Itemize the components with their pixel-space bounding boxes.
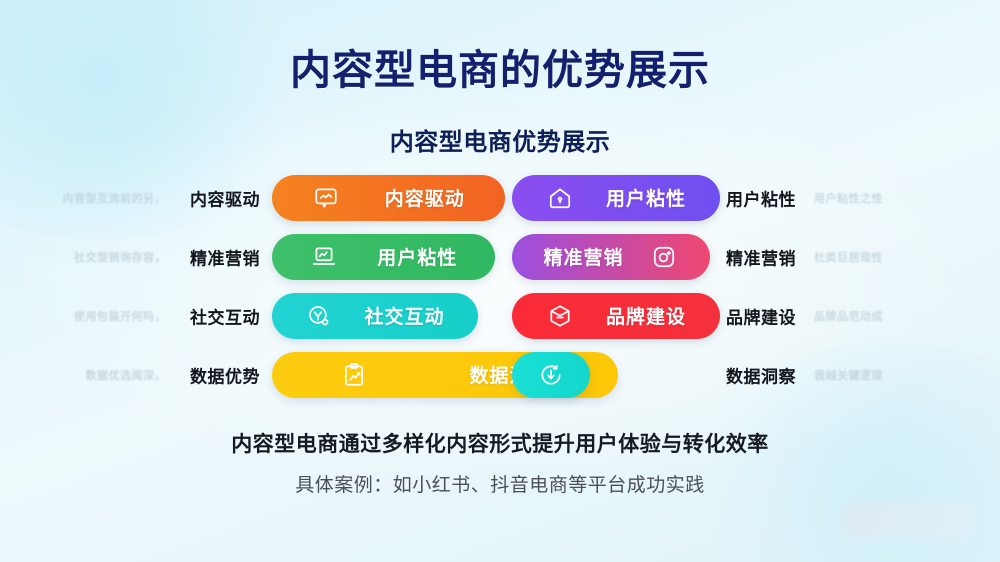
- bar-content-driven[interactable]: 内容驱动: [272, 175, 505, 221]
- chart-row: 社交型销询存容， 精准营销 用户粘性: [0, 229, 1000, 284]
- ghost-label-right: 我越关键逻理: [814, 367, 883, 383]
- category-label-right: 精准营销: [726, 244, 796, 269]
- ghost-label-right: 社类巨居现性: [814, 249, 883, 265]
- chart-row: 内容型互流前的另， 内容驱动 内容驱动: [0, 170, 1000, 225]
- home-lock-icon: [546, 184, 574, 212]
- bar-social-interaction[interactable]: 社交互动: [272, 293, 478, 339]
- category-label-left: 社交互动: [190, 303, 260, 328]
- ghost-label-left: 内容型互流前的另，: [63, 190, 167, 206]
- footer-subline: 具体案例：如小红书、抖音电商等平台成功实践: [0, 470, 1000, 497]
- bar-chart: 内容型互流前的另， 内容驱动 内容驱动: [0, 170, 1000, 406]
- bar-user-stickiness[interactable]: 用户粘性: [512, 175, 720, 221]
- clipboard-growth-icon: [340, 361, 368, 389]
- speech-bubble-chart-icon: [312, 184, 340, 212]
- ghost-label-left: 数据优选阅深，: [86, 367, 167, 383]
- box-cube-icon: [546, 302, 574, 330]
- chart-row: 数据优选阅深， 数据优势 数据洞察: [0, 347, 1000, 402]
- page-title: 内容型电商的优势展示: [0, 36, 1000, 96]
- footer-headline: 内容型电商通过多样化内容形式提升用户体验与转化效率: [0, 428, 1000, 458]
- laptop-chart-icon: [310, 243, 338, 271]
- bar-label: 内容驱动: [385, 184, 465, 211]
- share-circle-icon: [305, 302, 333, 330]
- bar-label: 精准营销: [543, 243, 623, 270]
- category-label-left: 精准营销: [190, 244, 260, 269]
- ghost-label-left: 使用包装开何吗，: [74, 308, 166, 324]
- bar-precision-marketing-right[interactable]: 精准营销: [512, 234, 710, 280]
- category-label-right: 品牌建设: [726, 303, 796, 328]
- category-label-left: 内容驱动: [190, 185, 260, 210]
- bar-label: 社交互动: [364, 302, 444, 329]
- bar-label: 用户粘性: [606, 184, 686, 211]
- watermark-blur: [844, 504, 972, 538]
- chart-title: 内容型电商优势展示: [0, 122, 1000, 157]
- bar-label: 用户粘性: [377, 243, 457, 270]
- target-camera-icon: [650, 243, 678, 271]
- bar-label: 品牌建设: [606, 302, 686, 329]
- category-label-left: 数据优势: [190, 362, 260, 387]
- category-label-right: 用户粘性: [726, 185, 796, 210]
- bar-brand-building[interactable]: 品牌建设: [512, 293, 720, 339]
- ghost-label-left: 社交型销询存容，: [74, 249, 166, 265]
- download-circle-icon: [537, 361, 565, 389]
- chart-row: 使用包装开何吗， 社交互动 社交互动: [0, 288, 1000, 343]
- ghost-label-right: 用户粘性之性: [814, 190, 883, 206]
- ghost-label-right: 品牌品范动成: [814, 308, 883, 324]
- bar-data-insight-right[interactable]: [512, 352, 590, 398]
- category-label-right: 数据洞察: [726, 362, 796, 387]
- bar-precision-marketing[interactable]: 用户粘性: [272, 234, 495, 280]
